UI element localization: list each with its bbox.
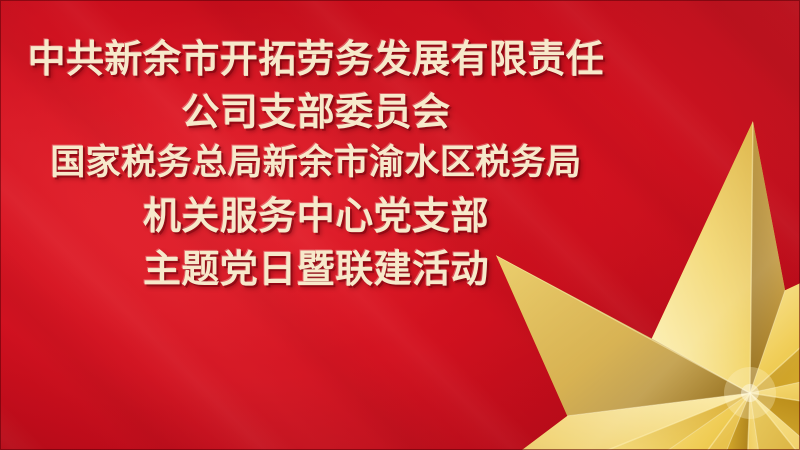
headline-line-5: 主题党日暨联建活动 <box>0 250 632 288</box>
headline-line-3: 国家税务总局新余市渝水区税务局 <box>0 146 632 181</box>
banner-canvas: 中共新余市开拓劳务发展有限责任 公司支部委员会 国家税务总局新余市渝水区税务局 … <box>0 0 800 450</box>
headline-line-4: 机关服务中心党支部 <box>0 197 632 235</box>
banner-headline: 中共新余市开拓劳务发展有限责任 公司支部委员会 国家税务总局新余市渝水区税务局 … <box>0 40 632 288</box>
headline-line-2: 公司支部委员会 <box>0 93 632 131</box>
headline-line-1: 中共新余市开拓劳务发展有限责任 <box>0 40 632 78</box>
